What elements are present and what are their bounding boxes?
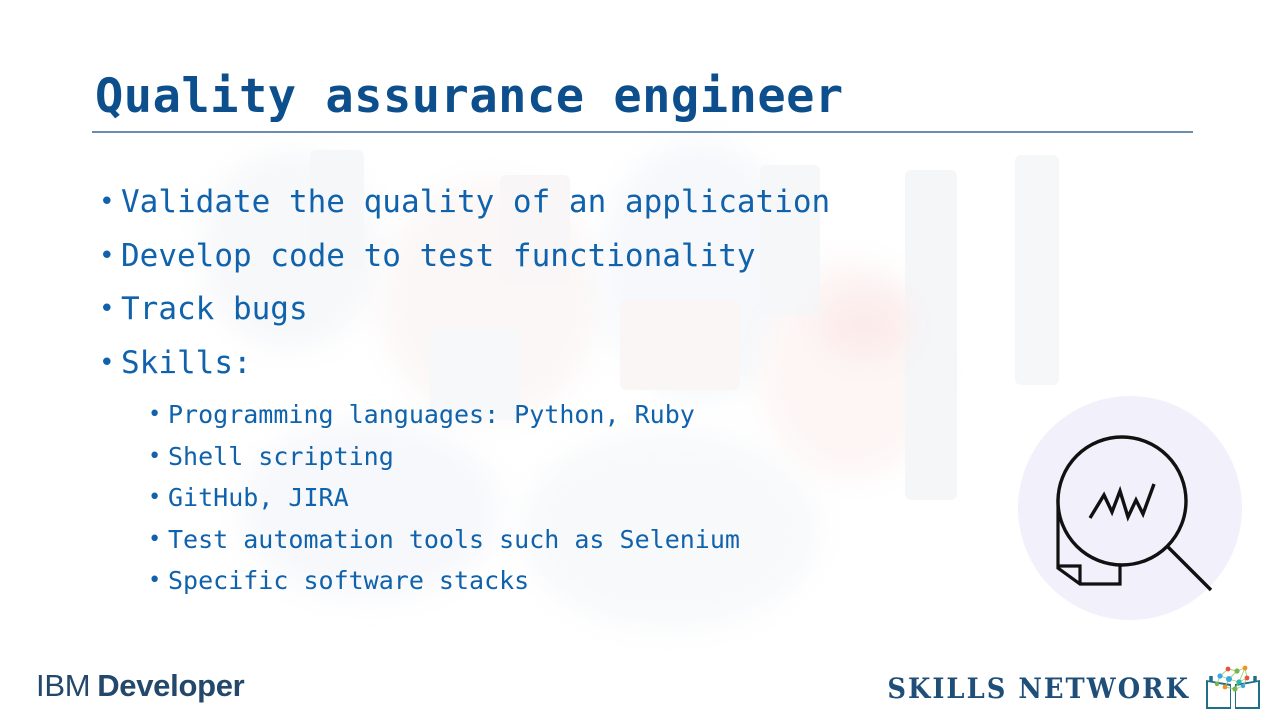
bullet-text: Track bugs [121, 283, 308, 337]
bullet-dot-icon: • [148, 477, 168, 519]
page-title-block: Quality assurance engineer [95, 72, 1195, 123]
bullet-list: • Validate the quality of an application… [99, 176, 1079, 602]
sub-bullet-item: • Specific software stacks [148, 560, 1079, 602]
title-underline-rule [92, 131, 1193, 133]
bullet-dot-icon: • [99, 230, 121, 284]
bullet-item: • Validate the quality of an application [99, 176, 1079, 230]
skills-network-book-icon [1202, 662, 1264, 714]
bullet-dot-icon: • [148, 519, 168, 561]
ibm-developer-logo: IBMDeveloper [36, 668, 244, 704]
bullet-item: • Track bugs [99, 283, 1079, 337]
sub-bullet-text: GitHub, JIRA [168, 477, 349, 519]
bullet-item: • Develop code to test functionality [99, 230, 1079, 284]
bullet-text: Develop code to test functionality [121, 230, 756, 284]
sub-bullet-item: • Test automation tools such as Selenium [148, 519, 1079, 561]
bullet-dot-icon: • [148, 436, 168, 478]
book-right-inner-icon [1236, 682, 1258, 707]
bullet-dot-icon: • [148, 394, 168, 436]
bullet-dot-icon: • [148, 560, 168, 602]
bullet-text: Validate the quality of an application [121, 176, 830, 230]
sub-bullet-item: • GitHub, JIRA [148, 477, 1079, 519]
sub-bullet-list: • Programming languages: Python, Ruby • … [99, 394, 1079, 602]
bullet-item: • Skills: [99, 337, 1079, 391]
bullet-dot-icon: • [99, 337, 121, 391]
page-title: Quality assurance engineer [95, 72, 1195, 123]
slide-canvas: Quality assurance engineer • Validate th… [0, 0, 1280, 720]
bullet-dot-icon: • [99, 176, 121, 230]
developer-wordmark: Developer [97, 668, 244, 703]
skills-network-logo: SKILLS NETWORK [861, 662, 1264, 714]
sub-bullet-item: • Shell scripting [148, 436, 1079, 478]
bullet-text: Skills: [121, 337, 252, 391]
sub-bullet-item: • Programming languages: Python, Ruby [148, 394, 1079, 436]
magnifier-handle-icon [1168, 547, 1211, 590]
sub-bullet-text: Test automation tools such as Selenium [168, 519, 740, 561]
sub-bullet-text: Programming languages: Python, Ruby [168, 394, 695, 436]
skills-network-wordmark: SKILLS NETWORK [887, 672, 1190, 705]
bullet-dot-icon: • [99, 283, 121, 337]
ibm-wordmark: IBM [36, 668, 90, 703]
sub-bullet-text: Shell scripting [168, 436, 394, 478]
sub-bullet-text: Specific software stacks [168, 560, 529, 602]
